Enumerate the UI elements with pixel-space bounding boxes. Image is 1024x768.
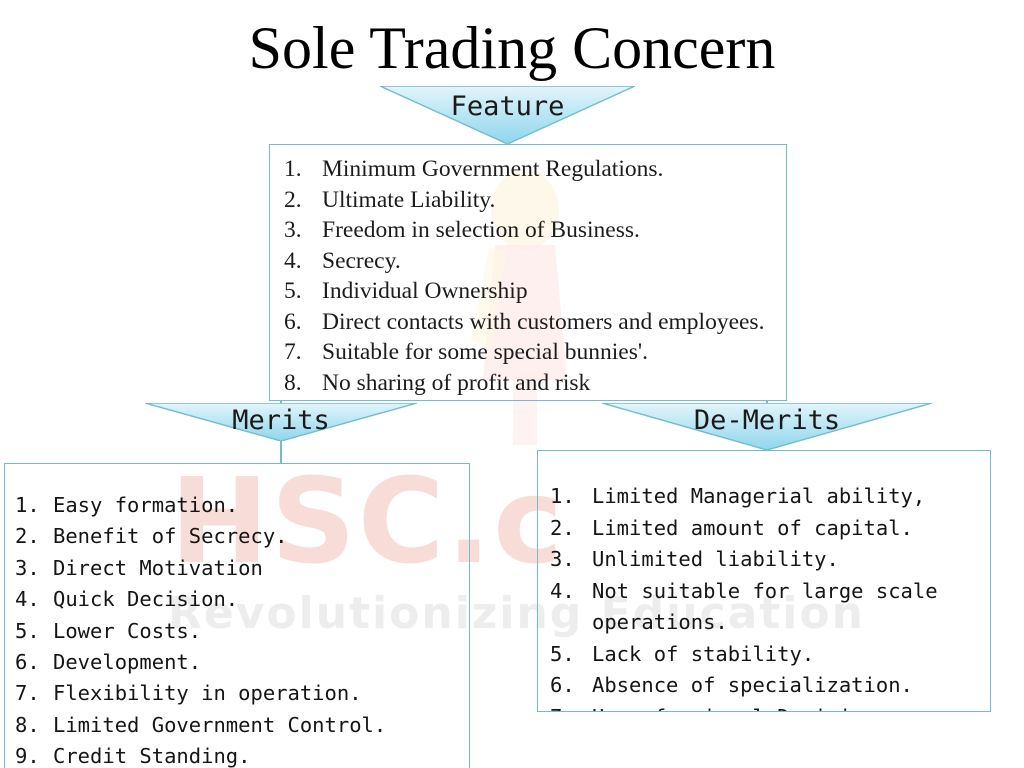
- list-item-text: Unprofessional Decisions: [592, 702, 990, 713]
- list-item-number: 1.: [550, 481, 592, 513]
- feature-list: 1. Minimum Government Regulations. 2. Ul…: [284, 154, 786, 398]
- list-item-text: No sharing of profit and risk: [322, 368, 786, 399]
- list-item-text: Suitable for some special bunnies'.: [322, 337, 786, 368]
- feature-triangle[interactable]: Feature: [380, 86, 635, 144]
- list-item-number: 3.: [550, 544, 592, 576]
- list-item-text: Limited Government Control.: [53, 710, 469, 741]
- list-item-number: 1.: [284, 154, 322, 185]
- list-item-text: Limited amount of capital.: [592, 513, 990, 545]
- list-item-number: 4.: [550, 576, 592, 608]
- list-item: 2. Benefit of Secrecy.: [15, 521, 469, 552]
- list-item: 3. Direct Motivation: [15, 553, 469, 584]
- list-item: 7. Unprofessional Decisions: [550, 702, 990, 713]
- list-item-number: 6.: [550, 670, 592, 702]
- list-item: 7. Flexibility in operation.: [15, 678, 469, 709]
- list-item: 3. Unlimited liability.: [550, 544, 990, 576]
- list-item: 5. Individual Ownership: [284, 276, 786, 307]
- page-title: Sole Trading Concern: [0, 14, 1024, 82]
- list-item-number: 9.: [15, 741, 53, 768]
- list-item: 8. No sharing of profit and risk: [284, 368, 786, 399]
- slide-canvas: HSC.c Revolutionizing Education Sole Tra…: [0, 0, 1024, 768]
- list-item-number: 2.: [550, 513, 592, 545]
- list-item: 1. Minimum Government Regulations.: [284, 154, 786, 185]
- list-item-text: Credit Standing.: [53, 741, 469, 768]
- merits-list: 1. Easy formation. 2. Benefit of Secrecy…: [15, 490, 469, 768]
- list-item-number: 3.: [15, 553, 53, 584]
- list-item: 5. Lack of stability.: [550, 639, 990, 671]
- merits-triangle[interactable]: Merits: [145, 403, 417, 441]
- list-item-text: Quick Decision.: [53, 584, 469, 615]
- list-item-number: 8.: [15, 710, 53, 741]
- list-item: 2. Ultimate Liability.: [284, 185, 786, 216]
- list-item: 5. Lower Costs.: [15, 616, 469, 647]
- list-item-number: 4.: [15, 584, 53, 615]
- list-item-number: 6.: [15, 647, 53, 678]
- list-item: 8. Limited Government Control.: [15, 710, 469, 741]
- list-item-text: Direct contacts with customers and emplo…: [322, 307, 786, 338]
- list-item: 4. Quick Decision.: [15, 584, 469, 615]
- list-item-number: 8.: [284, 368, 322, 399]
- list-item-number: 5.: [15, 616, 53, 647]
- list-item: 6. Development.: [15, 647, 469, 678]
- list-item-number: 7.: [15, 678, 53, 709]
- list-item-text: Lack of stability.: [592, 639, 990, 671]
- list-item: 7. Suitable for some special bunnies'.: [284, 337, 786, 368]
- connector-merits-stem: [280, 440, 282, 464]
- list-item-text: Not suitable for large scale operations.: [592, 576, 990, 639]
- list-item-text: Ultimate Liability.: [322, 185, 786, 216]
- list-item-text: Minimum Government Regulations.: [322, 154, 786, 185]
- list-item-number: 6.: [284, 307, 322, 338]
- list-item-text: Limited Managerial ability,: [592, 481, 990, 513]
- list-item-number: 5.: [284, 276, 322, 307]
- list-item-text: Development.: [53, 647, 469, 678]
- list-item-text: Flexibility in operation.: [53, 678, 469, 709]
- list-item: 9. Credit Standing.: [15, 741, 469, 768]
- feature-list-box: 1. Minimum Government Regulations. 2. Ul…: [269, 144, 787, 401]
- list-item-text: Unlimited liability.: [592, 544, 990, 576]
- list-item-number: 3.: [284, 215, 322, 246]
- list-item-number: 5.: [550, 639, 592, 671]
- merits-triangle-label: Merits: [145, 406, 417, 436]
- demerits-triangle[interactable]: De-Merits: [602, 403, 932, 450]
- list-item-text: Easy formation.: [53, 490, 469, 521]
- list-item: 2. Limited amount of capital.: [550, 513, 990, 545]
- list-item-number: 4.: [284, 246, 322, 277]
- list-item-text: Lower Costs.: [53, 616, 469, 647]
- list-item: 1. Easy formation.: [15, 490, 469, 521]
- list-item-text: Freedom in selection of Business.: [322, 215, 786, 246]
- list-item: 6. Absence of specialization.: [550, 670, 990, 702]
- demerits-triangle-label: De-Merits: [602, 406, 932, 436]
- list-item-number: 2.: [284, 185, 322, 216]
- list-item-number: 7.: [550, 702, 592, 713]
- merits-list-box: 1. Easy formation. 2. Benefit of Secrecy…: [4, 463, 470, 768]
- list-item: 1. Limited Managerial ability,: [550, 481, 990, 513]
- list-item-number: 7.: [284, 337, 322, 368]
- list-item-number: 1.: [15, 490, 53, 521]
- list-item: 4. Not suitable for large scale operatio…: [550, 576, 990, 639]
- list-item: 6. Direct contacts with customers and em…: [284, 307, 786, 338]
- demerits-list: 1. Limited Managerial ability, 2. Limite…: [550, 481, 990, 712]
- list-item-text: Benefit of Secrecy.: [53, 521, 469, 552]
- list-item-number: 2.: [15, 521, 53, 552]
- list-item-text: Direct Motivation: [53, 553, 469, 584]
- feature-triangle-label: Feature: [380, 92, 635, 122]
- list-item: 4. Secrecy.: [284, 246, 786, 277]
- list-item-text: Secrecy.: [322, 246, 786, 277]
- list-item-text: Individual Ownership: [322, 276, 786, 307]
- list-item-text: Absence of specialization.: [592, 670, 990, 702]
- list-item: 3. Freedom in selection of Business.: [284, 215, 786, 246]
- demerits-list-box: 1. Limited Managerial ability, 2. Limite…: [537, 450, 991, 712]
